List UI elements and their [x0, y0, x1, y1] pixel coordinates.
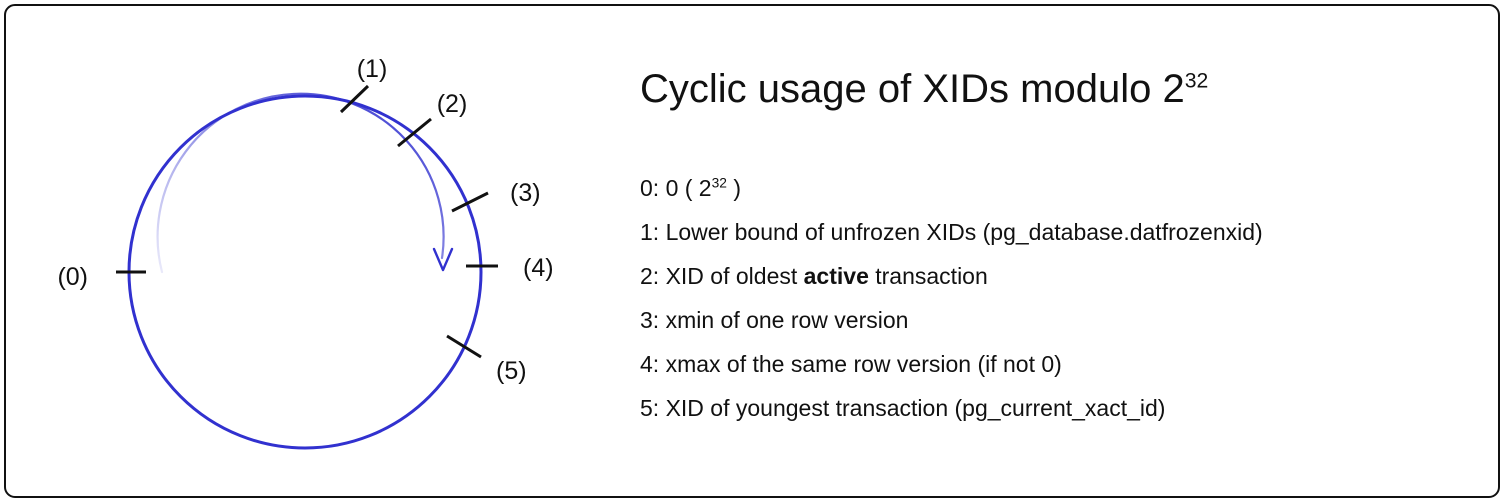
legend-item-3: 3: xmin of one row version [640, 298, 1470, 342]
legend-item-2: 2: XID of oldest active transaction [640, 254, 1470, 298]
page-title-exponent: 32 [1185, 70, 1209, 93]
legend-item-5: 5: XID of youngest transaction (pg_curre… [640, 386, 1470, 430]
legend-item-1: 1: Lower bound of unfrozen XIDs (pg_data… [640, 210, 1470, 254]
text-column: Cyclic usage of XIDs modulo 232 0: 0 ( 2… [640, 0, 1470, 502]
legend-item-2-emphasis: active [804, 263, 869, 289]
legend-item-0: 0: 0 ( 232 ) [640, 166, 1470, 210]
tick-mark-2 [398, 119, 431, 146]
legend-item-0-exponent: 32 [712, 175, 727, 190]
tick-label-1: (1) [357, 55, 388, 83]
xid-cycle-diagram: (0) (1) (2) (3) (4) (5) [0, 0, 620, 502]
tick-label-5: (5) [496, 357, 527, 385]
legend-list: 0: 0 ( 232 ) 1: Lower bound of unfrozen … [640, 166, 1470, 430]
page-title-text: Cyclic usage of XIDs modulo 2 [640, 67, 1185, 111]
tick-mark-5 [447, 336, 481, 357]
legend-item-0-suffix: ) [727, 175, 741, 201]
cycle-circle [129, 96, 481, 448]
page-title: Cyclic usage of XIDs modulo 232 [640, 66, 1208, 112]
direction-arrow-arc [158, 94, 444, 272]
tick-label-0: (0) [57, 263, 88, 291]
legend-item-4: 4: xmax of the same row version (if not … [640, 342, 1470, 386]
legend-item-2-text-after: transaction [869, 263, 988, 289]
slide-canvas: (0) (1) (2) (3) (4) (5) Cyclic usage of … [0, 0, 1504, 502]
tick-label-3: (3) [510, 179, 541, 207]
tick-label-4: (4) [523, 254, 554, 282]
legend-item-0-text: 0: 0 ( 2 [640, 175, 712, 201]
tick-label-2: (2) [437, 90, 468, 118]
xid-cycle-svg: (0) (1) (2) (3) (4) (5) [0, 0, 620, 502]
legend-item-2-text-before: 2: XID of oldest [640, 263, 804, 289]
